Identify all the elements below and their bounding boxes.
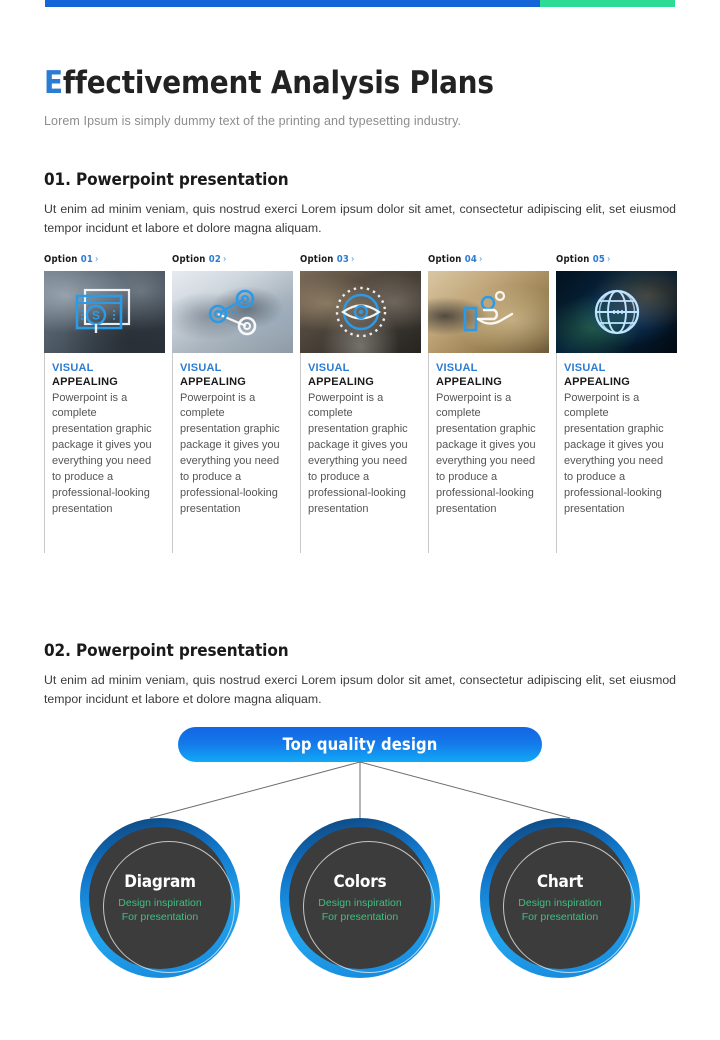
- page-title-rest: ffectivement Analysis Plans: [63, 65, 494, 101]
- option-word: Option: [44, 254, 78, 265]
- top-accent-bar: [45, 0, 675, 7]
- node-subtitle-line1: Design inspiration: [518, 897, 601, 909]
- svg-text:S: S: [91, 309, 99, 323]
- option-card-kicker-2: APPEALING: [308, 376, 415, 390]
- option-card-kicker-2: APPEALING: [564, 376, 671, 390]
- node-subtitle-line2: For presentation: [522, 911, 598, 923]
- option-number: 04: [465, 254, 477, 265]
- node-subtitle: Design inspirationFor presentation: [518, 897, 601, 923]
- option-card[interactable]: Option 02›: [172, 254, 300, 553]
- option-number: 05: [593, 254, 605, 265]
- section-01: 01. Powerpoint presentation Ut enim ad m…: [44, 170, 684, 238]
- option-card-label: Option 02›: [172, 254, 300, 265]
- option-card-body: VISUAL APPEALING Powerpoint is a complet…: [172, 353, 293, 553]
- chevron-right-icon: ›: [223, 254, 227, 265]
- option-word: Option: [428, 254, 462, 265]
- option-card-list: Option 01› S: [44, 254, 692, 553]
- network-share-icon: [172, 271, 293, 353]
- node-subtitle: Design inspirationFor presentation: [118, 897, 201, 923]
- option-card-text: Powerpoint is a complete presentation gr…: [52, 391, 159, 519]
- option-card-kicker: VISUAL: [52, 362, 159, 376]
- section-02-body: Ut enim ad minim veniam, quis nostrud ex…: [44, 671, 676, 709]
- globe-icon: [556, 271, 677, 353]
- diagram-node-colors[interactable]: Colors Design inspirationFor presentatio…: [280, 818, 440, 978]
- top-accent-bar-blue: [45, 0, 540, 7]
- section-01-body: Ut enim ad minim veniam, quis nostrud ex…: [44, 200, 676, 238]
- node-subtitle-line1: Design inspiration: [318, 897, 401, 909]
- page-title: Effectivement Analysis Plans: [44, 66, 684, 102]
- node-disc: Colors Design inspirationFor presentatio…: [289, 827, 431, 969]
- option-number: 01: [81, 254, 93, 265]
- option-word: Option: [300, 254, 334, 265]
- diagram-node-chart[interactable]: Chart Design inspirationFor presentation: [480, 818, 640, 978]
- option-card-body: VISUAL APPEALING Powerpoint is a complet…: [44, 353, 165, 553]
- option-card-kicker-2: APPEALING: [436, 376, 543, 390]
- option-card-label: Option 05›: [556, 254, 684, 265]
- option-card-text: Powerpoint is a complete presentation gr…: [308, 391, 415, 519]
- option-card[interactable]: Option 04› VISUAL APPEALING Powe: [428, 254, 556, 553]
- option-card-thumbnail: S: [44, 271, 165, 353]
- option-card-text: Powerpoint is a complete presentation gr…: [564, 391, 671, 519]
- option-card-text: Powerpoint is a complete presentation gr…: [436, 391, 543, 519]
- hand-coins-icon: [428, 271, 549, 353]
- option-card-thumbnail: [556, 271, 677, 353]
- option-word: Option: [172, 254, 206, 265]
- option-card-kicker: VISUAL: [180, 362, 287, 376]
- node-title: Chart: [537, 872, 583, 892]
- pill-label: Top quality design: [283, 735, 438, 754]
- chevron-right-icon: ›: [95, 254, 99, 265]
- node-subtitle-line2: For presentation: [322, 911, 398, 923]
- slide-canvas: Effectivement Analysis Plans Lorem Ipsum…: [0, 0, 720, 1040]
- node-subtitle: Design inspirationFor presentation: [318, 897, 401, 923]
- dollar-window-icon: S: [44, 271, 165, 353]
- top-accent-bar-green: [540, 0, 675, 7]
- node-title: Colors: [334, 872, 387, 892]
- section-02-heading: 02. Powerpoint presentation: [44, 641, 684, 661]
- option-card-kicker-2: APPEALING: [180, 376, 287, 390]
- chevron-right-icon: ›: [351, 254, 355, 265]
- option-card[interactable]: Option 03› VISUAL APPEALING Powe: [300, 254, 428, 553]
- node-title: Diagram: [124, 872, 196, 892]
- option-card-thumbnail: [172, 271, 293, 353]
- option-card-body: VISUAL APPEALING Powerpoint is a complet…: [556, 353, 677, 553]
- slide-header: Effectivement Analysis Plans Lorem Ipsum…: [44, 66, 684, 128]
- option-card-label: Option 03›: [300, 254, 428, 265]
- diagram-node-diagram[interactable]: Diagram Design inspirationFor presentati…: [80, 818, 240, 978]
- option-card-kicker: VISUAL: [564, 362, 671, 376]
- node-subtitle-line2: For presentation: [122, 911, 198, 923]
- page-subtitle: Lorem Ipsum is simply dummy text of the …: [44, 114, 684, 128]
- option-card-body: VISUAL APPEALING Powerpoint is a complet…: [300, 353, 421, 553]
- top-quality-design-pill[interactable]: Top quality design: [178, 727, 542, 762]
- chevron-right-icon: ›: [607, 254, 611, 265]
- option-card-label: Option 04›: [428, 254, 556, 265]
- node-disc: Chart Design inspirationFor presentation: [489, 827, 631, 969]
- section-02: 02. Powerpoint presentation Ut enim ad m…: [44, 641, 684, 709]
- option-word: Option: [556, 254, 590, 265]
- option-card-kicker-2: APPEALING: [52, 376, 159, 390]
- option-card[interactable]: Option 01› S: [44, 254, 172, 553]
- option-card-kicker: VISUAL: [308, 362, 415, 376]
- node-disc: Diagram Design inspirationFor presentati…: [89, 827, 231, 969]
- chevron-right-icon: ›: [479, 254, 483, 265]
- option-card-thumbnail: [428, 271, 549, 353]
- node-subtitle-line1: Design inspiration: [118, 897, 201, 909]
- option-card-label: Option 01›: [44, 254, 172, 265]
- option-card-thumbnail: [300, 271, 421, 353]
- option-card-body: VISUAL APPEALING Powerpoint is a complet…: [428, 353, 549, 553]
- option-card[interactable]: Option 05›: [556, 254, 684, 553]
- option-number: 02: [209, 254, 221, 265]
- option-card-text: Powerpoint is a complete presentation gr…: [180, 391, 287, 519]
- option-number: 03: [337, 254, 349, 265]
- page-title-highlight: E: [44, 65, 63, 101]
- eye-target-icon: [300, 271, 421, 353]
- section-01-heading: 01. Powerpoint presentation: [44, 170, 684, 190]
- option-card-kicker: VISUAL: [436, 362, 543, 376]
